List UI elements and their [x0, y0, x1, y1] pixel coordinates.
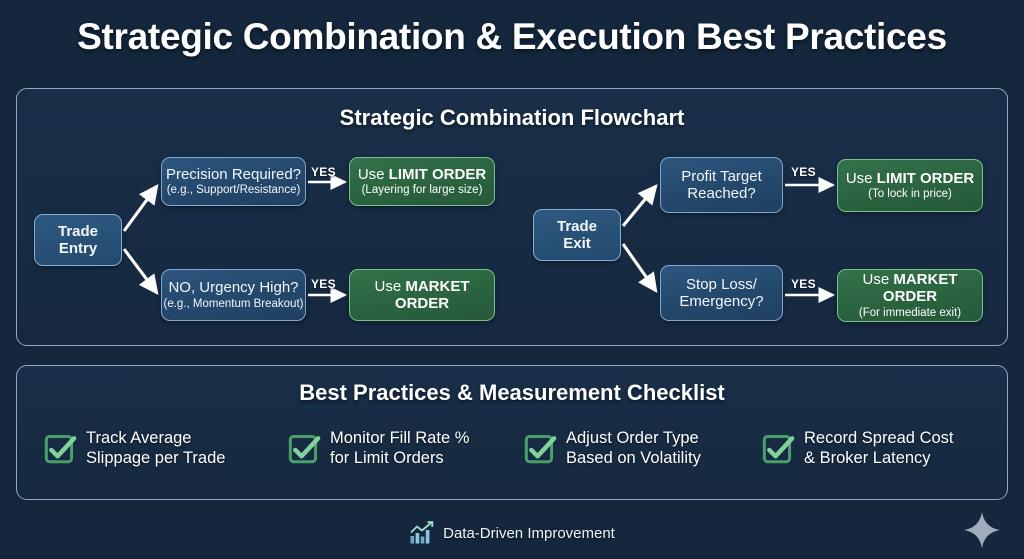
node-sub: (Layering for large size)	[362, 184, 483, 197]
node-line-1: Use MARKET ORDER	[838, 271, 982, 306]
node-line-1: Precision Required?	[166, 166, 301, 183]
list-item-line-2: Based on Volatility	[566, 448, 701, 468]
flow-node-urgency-high[interactable]: NO, Urgency High? (e.g., Momentum Breako…	[161, 269, 306, 321]
list-item-line-1: Record Spread Cost	[804, 428, 954, 448]
node-line-1: Trade	[557, 218, 597, 235]
outcome-strong: MARKET	[405, 278, 469, 295]
node-line-1: Stop Loss/	[686, 276, 757, 293]
list-item[interactable]: Track Average Slippage per Trade	[44, 428, 225, 468]
flow-node-profit-target-reached[interactable]: Profit Target Reached?	[660, 157, 783, 213]
footer-label: Data-Driven Improvement	[443, 525, 615, 542]
page-title: Strategic Combination & Execution Best P…	[0, 16, 1024, 58]
flow-node-precision-required[interactable]: Precision Required? (e.g., Support/Resis…	[161, 157, 306, 206]
node-line-1: Trade	[58, 223, 98, 240]
outcome-prefix: Use	[358, 166, 389, 183]
edge-label-yes-stoploss: YES	[791, 277, 816, 291]
outcome-strong: MARKET ORDER	[883, 271, 958, 305]
list-item-line-2: & Broker Latency	[804, 448, 954, 468]
list-item-line-2: Slippage per Trade	[86, 448, 225, 468]
list-item[interactable]: Adjust Order Type Based on Volatility	[524, 428, 701, 468]
node-line-1: NO, Urgency High?	[168, 279, 298, 296]
bar-chart-trend-up-icon	[409, 521, 435, 545]
list-item-text: Track Average Slippage per Trade	[86, 428, 225, 468]
node-line-1: Use LIMIT ORDER	[358, 166, 486, 183]
outcome-strong: LIMIT ORDER	[389, 166, 487, 183]
edge-label-yes-precision: YES	[311, 165, 336, 179]
flowchart-panel-title: Strategic Combination Flowchart	[17, 105, 1007, 131]
list-item-text: Monitor Fill Rate % for Limit Orders	[330, 428, 469, 468]
flow-node-trade-entry[interactable]: Trade Entry	[34, 214, 122, 266]
node-line-1: Use MARKET	[374, 278, 469, 295]
list-item-line-1: Monitor Fill Rate %	[330, 428, 469, 448]
flow-node-use-market-order-exit[interactable]: Use MARKET ORDER (For immediate exit)	[837, 269, 983, 322]
outcome-strong-2: ORDER	[395, 295, 449, 312]
list-item-line-1: Track Average	[86, 428, 225, 448]
node-line-2: Entry	[59, 240, 97, 257]
checkbox-checked-icon[interactable]	[288, 432, 321, 465]
checkbox-checked-icon[interactable]	[524, 432, 557, 465]
edge-label-yes-profit: YES	[791, 165, 816, 179]
list-item-line-2: for Limit Orders	[330, 448, 469, 468]
list-item[interactable]: Record Spread Cost & Broker Latency	[762, 428, 954, 468]
flow-node-use-limit-order-entry[interactable]: Use LIMIT ORDER (Layering for large size…	[349, 157, 495, 206]
node-sub: (e.g., Momentum Breakout)	[164, 298, 304, 311]
edge-label-yes-urgency: YES	[311, 277, 336, 291]
outcome-prefix: Use	[862, 271, 893, 288]
four-point-sparkle-icon	[963, 511, 1001, 549]
list-item-text: Adjust Order Type Based on Volatility	[566, 428, 701, 468]
outcome-strong: LIMIT ORDER	[877, 170, 975, 187]
checkbox-checked-icon[interactable]	[762, 432, 795, 465]
flow-node-use-market-order-entry[interactable]: Use MARKET ORDER	[349, 269, 495, 321]
checkbox-checked-icon[interactable]	[44, 432, 77, 465]
node-line-2: ORDER	[395, 295, 449, 312]
infographic-canvas: Strategic Combination & Execution Best P…	[0, 0, 1024, 559]
node-line-2: Emergency?	[679, 293, 763, 310]
node-line-2: Reached?	[687, 185, 755, 202]
node-sub: (For immediate exit)	[859, 307, 961, 320]
flow-node-trade-exit[interactable]: Trade Exit	[533, 209, 621, 261]
node-sub: (To lock in price)	[868, 188, 952, 201]
list-item-line-1: Adjust Order Type	[566, 428, 701, 448]
footer: Data-Driven Improvement	[0, 521, 1024, 545]
flow-node-stop-loss-emergency[interactable]: Stop Loss/ Emergency?	[660, 265, 783, 321]
node-line-1: Profit Target	[681, 168, 762, 185]
node-sub: (e.g., Support/Resistance)	[167, 184, 301, 197]
flow-node-use-limit-order-exit[interactable]: Use LIMIT ORDER (To lock in price)	[837, 159, 983, 212]
node-line-1: Use LIMIT ORDER	[846, 170, 974, 187]
outcome-prefix: Use	[846, 170, 877, 187]
list-item-text: Record Spread Cost & Broker Latency	[804, 428, 954, 468]
list-item[interactable]: Monitor Fill Rate % for Limit Orders	[288, 428, 469, 468]
checklist-panel-title: Best Practices & Measurement Checklist	[17, 380, 1007, 406]
outcome-prefix: Use	[374, 278, 405, 295]
node-line-2: Exit	[563, 235, 591, 252]
